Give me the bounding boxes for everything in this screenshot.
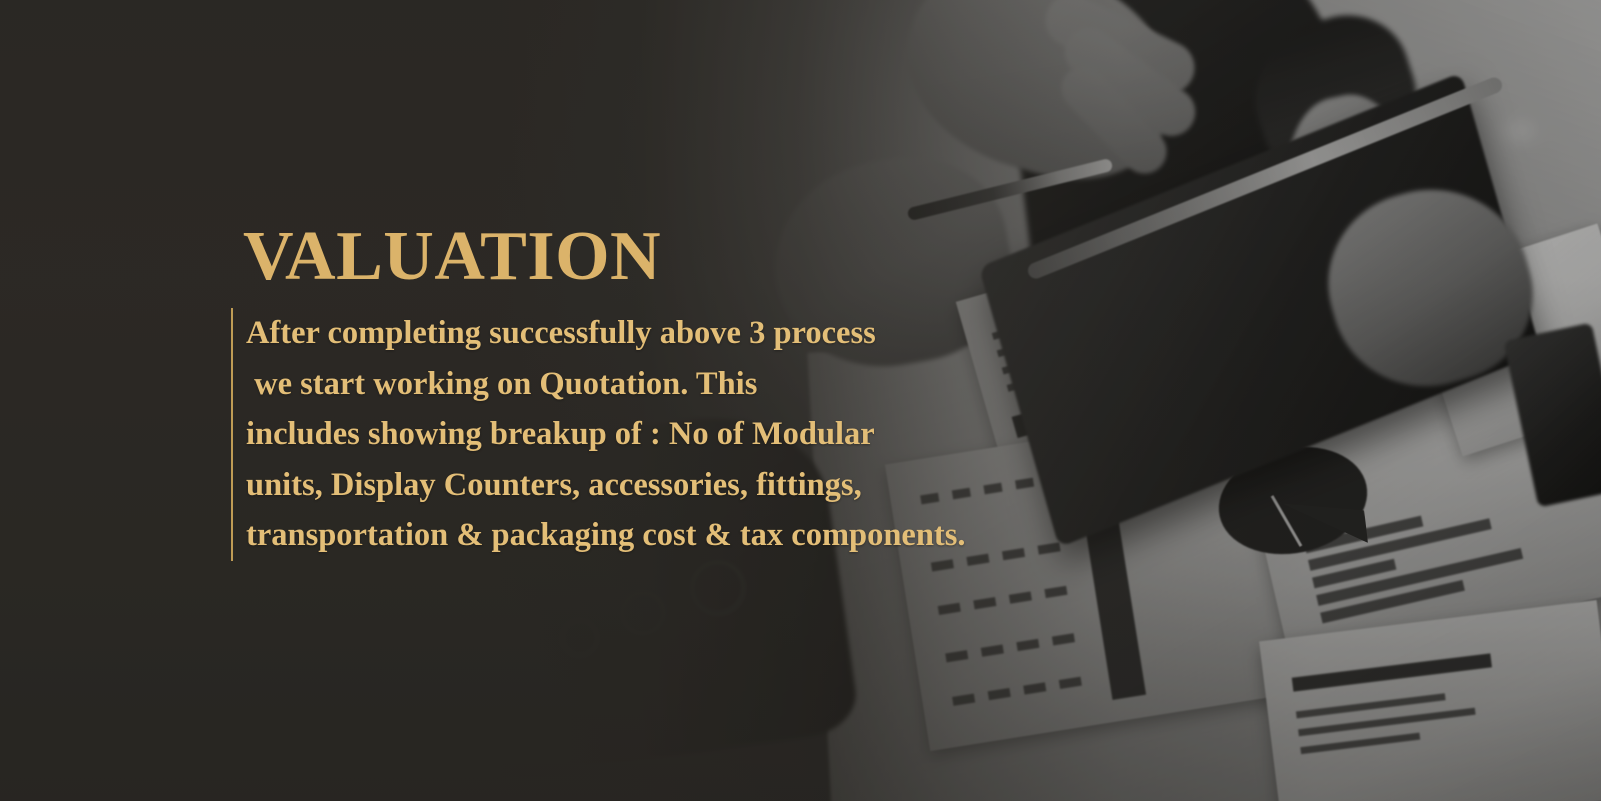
body-text-block: After completing successfully above 3 pr… — [231, 308, 966, 561]
body-line: After completing successfully above 3 pr… — [246, 308, 966, 359]
valuation-slide: VALUATION After completing successfully … — [0, 0, 1601, 801]
slide-content: VALUATION After completing successfully … — [0, 0, 1601, 801]
body-line: units, Display Counters, accessories, fi… — [246, 460, 966, 511]
body-line: transportation & packaging cost & tax co… — [246, 510, 966, 561]
page-title: VALUATION — [243, 222, 661, 292]
body-line: we start working on Quotation. This — [246, 359, 966, 410]
body-line: includes showing breakup of : No of Modu… — [246, 409, 966, 460]
